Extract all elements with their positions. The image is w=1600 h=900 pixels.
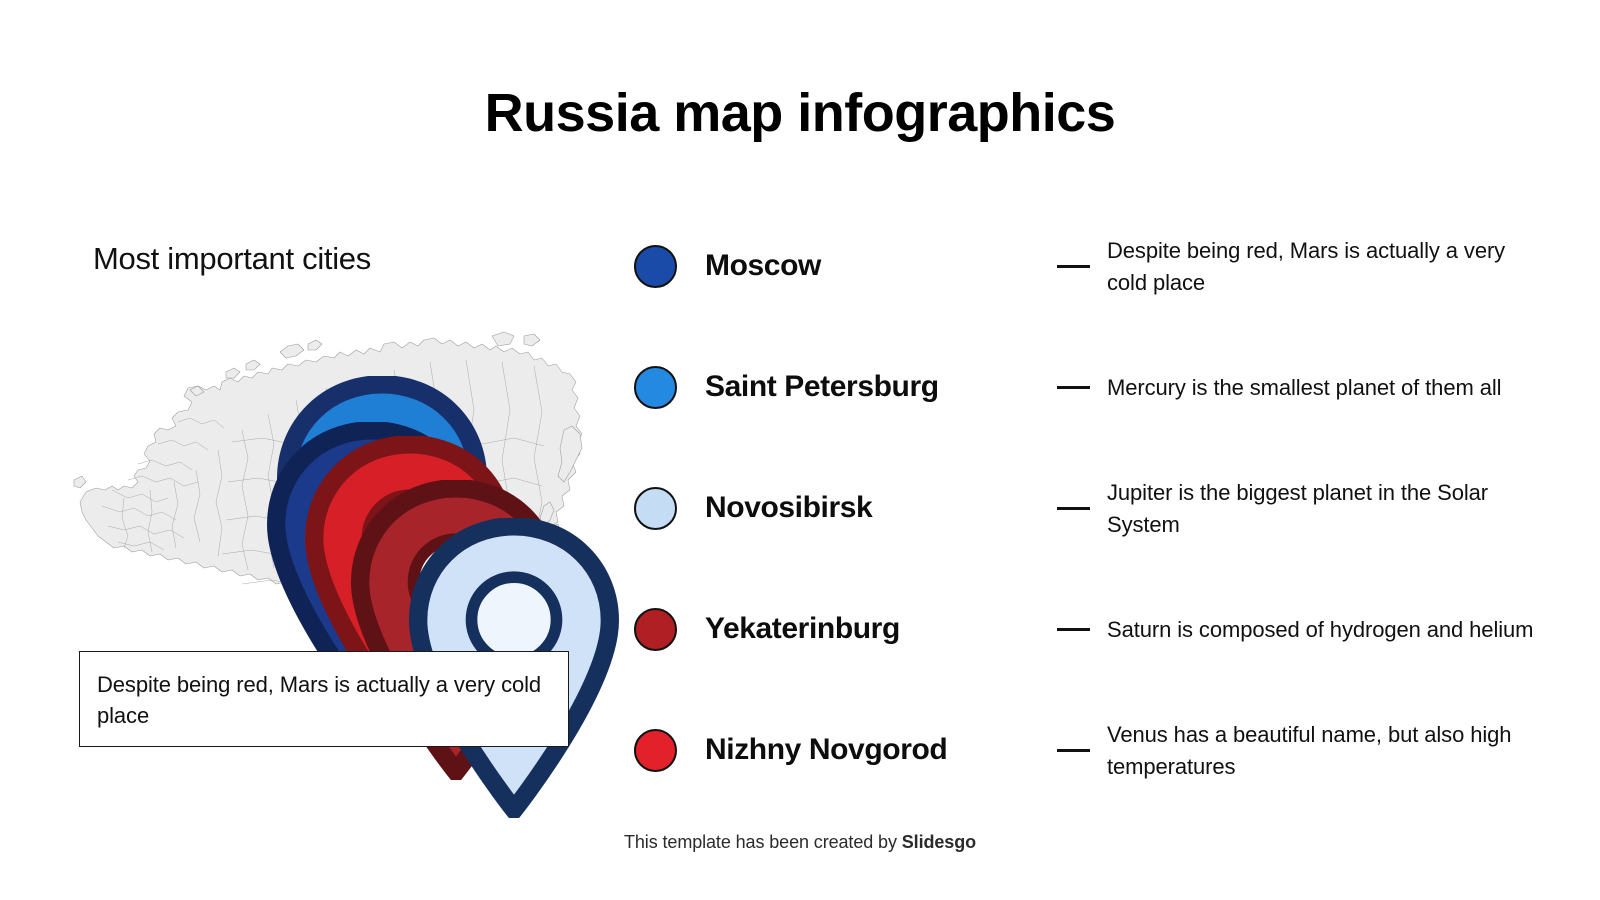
legend-city-label: Nizhny Novgorod [705,733,1057,768]
slide-canvas: Russia map infographics Most important c… [0,0,1600,900]
legend-dash-icon [1057,386,1090,388]
legend-description: Venus has a beautiful name, but also hig… [1107,719,1544,781]
footer-prefix: This template has been created by [624,832,902,852]
legend-dash-icon [1057,507,1090,509]
legend-color-dot-novosibirsk [634,487,677,530]
footer-credit: This template has been created by Slides… [0,832,1600,853]
legend-row-novosibirsk[interactable]: Novosibirsk Jupiter is the biggest plane… [634,448,1544,569]
legend-city-label: Moscow [705,249,1057,284]
russia-map[interactable] [72,330,592,630]
legend-city-label: Yekaterinburg [705,612,1057,647]
legend-dash-icon [1057,749,1090,751]
legend-row-saint-petersburg[interactable]: Saint Petersburg Mercury is the smallest… [634,327,1544,448]
legend-description: Mercury is the smallest planet of them a… [1107,372,1544,403]
legend-row-moscow[interactable]: Moscow Despite being red, Mars is actual… [634,206,1544,327]
legend-color-dot-nizhny-novgorod [634,729,677,772]
map-caption-box: Despite being red, Mars is actually a ve… [79,651,569,747]
city-legend-list: Moscow Despite being red, Mars is actual… [634,206,1544,811]
legend-dash-icon [1057,628,1090,630]
section-heading: Most important cities [93,240,579,277]
legend-dash-icon [1057,265,1090,267]
legend-description: Saturn is composed of hydrogen and heliu… [1107,614,1544,645]
legend-city-label: Novosibirsk [705,491,1057,526]
legend-description: Jupiter is the biggest planet in the Sol… [1107,477,1544,539]
legend-color-dot-yekaterinburg [634,608,677,651]
legend-row-yekaterinburg[interactable]: Yekaterinburg Saturn is composed of hydr… [634,569,1544,690]
legend-row-nizhny-novgorod[interactable]: Nizhny Novgorod Venus has a beautiful na… [634,690,1544,811]
legend-color-dot-moscow [634,245,677,288]
page-title: Russia map infographics [0,82,1600,144]
legend-city-label: Saint Petersburg [705,370,1057,405]
legend-color-dot-saint-petersburg [634,366,677,409]
left-panel: Most important cities [79,240,579,277]
map-caption-text: Despite being red, Mars is actually a ve… [97,669,551,731]
footer-brand: Slidesgo [902,832,976,852]
legend-description: Despite being red, Mars is actually a ve… [1107,235,1544,297]
